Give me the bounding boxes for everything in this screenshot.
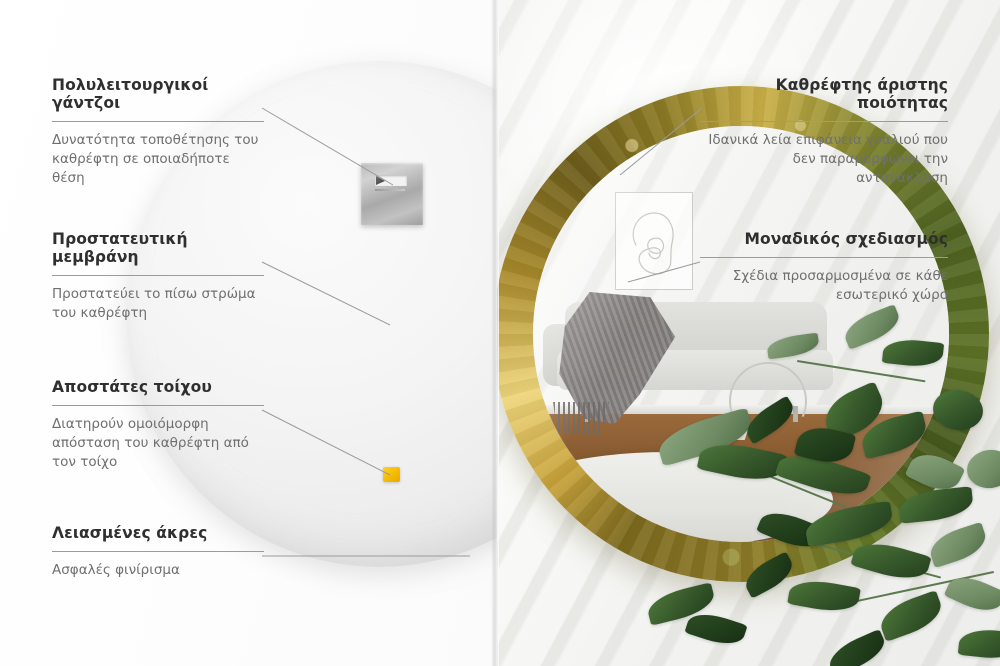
callout-quality: Καθρέφτης άριστης ποιότητας Ιδανικά λεία…: [700, 76, 948, 188]
callout-title: Πολυλειτουργικοί γάντζοι: [52, 76, 264, 112]
callout-title: Καθρέφτης άριστης ποιότητας: [700, 76, 948, 112]
callout-description: Προστατεύει το πίσω στρώμα του καθρέφτη: [52, 285, 264, 323]
callout-spacers: Αποστάτες τοίχου Διατηρούν ομοιόμορφη απ…: [52, 378, 264, 472]
callout-description: Διατηρούν ομοιόμορφη απόσταση του καθρέφ…: [52, 415, 264, 472]
callout-rule: [700, 257, 948, 258]
callout-description: Σχέδια προσαρμοσμένα σε κάθε εσωτερικό χ…: [700, 267, 948, 305]
leaf: [882, 337, 944, 369]
hanger-plate: [361, 163, 423, 225]
callout-rule: [52, 275, 264, 276]
hanger-slot-icon: [375, 175, 407, 186]
callout-title: Αποστάτες τοίχου: [52, 378, 264, 396]
leaf: [875, 590, 946, 642]
callout-membrane: Προστατευτική μεμβράνη Προστατεύει το πί…: [52, 230, 264, 323]
yellow-spacer: [383, 467, 400, 482]
leaf: [787, 576, 861, 616]
callout-edges: Λειασμένες άκρες Ασφαλές φινίρισμα: [52, 524, 264, 580]
callout-title: Λειασμένες άκρες: [52, 524, 264, 542]
leaf: [824, 629, 889, 666]
callout-title: Μοναδικός σχεδιασμός: [700, 230, 948, 248]
leaf: [965, 447, 1000, 491]
panel-divider: [491, 0, 499, 666]
leaf: [850, 536, 931, 586]
callout-hooks: Πολυλειτουργικοί γάντζοι Δυνατότητα τοπο…: [52, 76, 264, 188]
leaf: [684, 608, 747, 651]
callout-description: Ιδανικά λεία επιφάνεια γυαλιού που δεν π…: [700, 131, 948, 188]
leaf: [766, 332, 820, 359]
callout-rule: [52, 551, 264, 552]
callout-design: Μοναδικός σχεδιασμός Σχέδια προσαρμοσμέν…: [700, 230, 948, 305]
callout-rule: [700, 121, 948, 122]
leaf: [926, 522, 990, 568]
leaf: [898, 486, 975, 524]
callout-rule: [52, 121, 264, 122]
callout-description: Δυνατότητα τοποθέτησης του καθρέφτη σε ο…: [52, 131, 264, 188]
infographic-stage: Πολυλειτουργικοί γάντζοι Δυνατότητα τοπο…: [0, 0, 1000, 666]
callout-description: Ασφαλές φινίρισμα: [52, 561, 264, 580]
hanger-slot-line: [375, 189, 405, 191]
callout-title: Προστατευτική μεμβράνη: [52, 230, 264, 266]
decorative-foliage: [647, 300, 1000, 666]
leaf: [958, 627, 1000, 661]
leaf: [803, 501, 895, 548]
leaf: [930, 387, 985, 434]
callout-rule: [52, 405, 264, 406]
